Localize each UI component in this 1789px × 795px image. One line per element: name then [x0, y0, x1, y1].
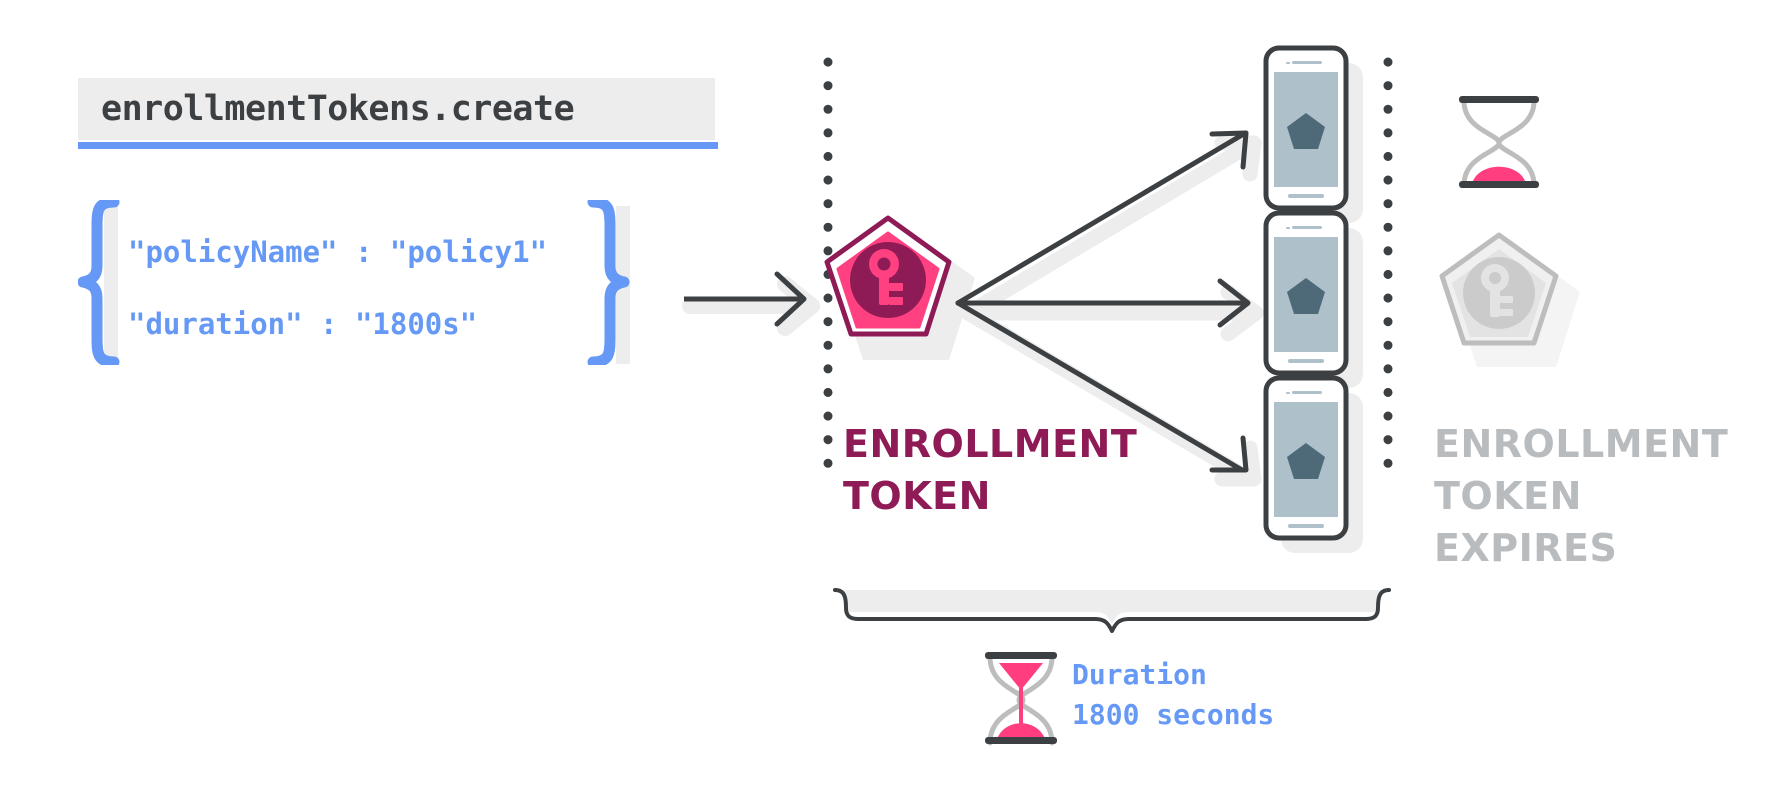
expiry-hourglass-icon [1459, 96, 1539, 188]
enrollment-token-expires-label: Enrollment Token Expires [1434, 418, 1754, 574]
expired-token-badge-icon [1442, 235, 1580, 367]
device-phone-1 [1266, 48, 1363, 223]
enrollment-token-label: Enrollment Token [843, 418, 1143, 522]
request-arrow [684, 274, 812, 328]
duration-hourglass-icon [985, 652, 1057, 744]
enrollment-token-badge-icon [827, 218, 975, 360]
duration-caption: Duration 1800 seconds [1072, 655, 1274, 735]
diagram-artwork [0, 0, 1789, 795]
duration-title: Duration [1072, 655, 1274, 695]
duration-brace [835, 590, 1389, 631]
device-phone-2 [1266, 213, 1363, 388]
device-phone-3 [1266, 378, 1363, 553]
diagram-canvas: enrollmentTokens.create "policyName" : "… [0, 0, 1789, 795]
duration-value: 1800 seconds [1072, 695, 1274, 735]
